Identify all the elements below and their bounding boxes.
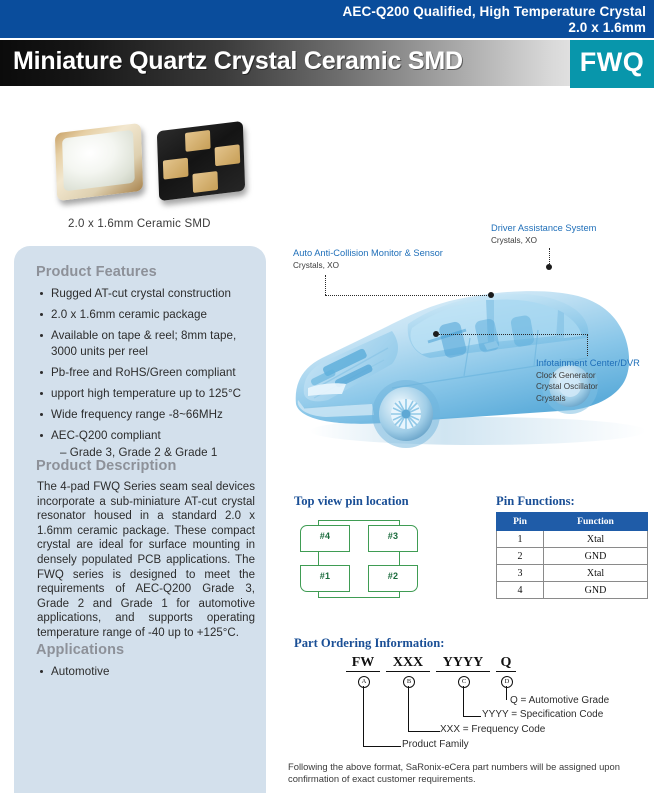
product-features-list: Rugged AT-cut crystal construction2.0 x … [38,286,256,466]
order-segment-a: FW [346,655,380,672]
table-row: 1Xtal [497,531,648,548]
table-row: 2GND [497,548,648,565]
solder-pad [215,144,241,166]
callout-sub: Crystals, XO [491,235,596,247]
legend-c: YYYY = Specification Code [482,709,603,720]
cell-function: Xtal [544,565,648,582]
pin-location-heading: Top view pin location [294,494,409,509]
callout-auto-anti-collision: Auto Anti-Collision Monitor & Sensor Cry… [293,248,443,271]
table-header-row: Pin Function [497,513,648,531]
callout-dot [546,264,552,270]
title-bar: Miniature Quartz Crystal Ceramic SMD [0,40,654,86]
banner-line-1: AEC-Q200 Qualified, High Temperature Cry… [343,4,646,19]
list-item: upport high temperature up to 125°C [38,386,256,402]
leader-a-horizontal [363,746,401,747]
pad-label: #2 [369,571,417,581]
product-description-heading: Product Description [36,458,176,474]
part-ordering-note: Following the above format, SaRonix-eCer… [288,761,648,785]
solder-pad [185,130,211,152]
legend-a: Product Family [402,739,469,750]
column-header-function: Function [544,513,648,531]
automotive-application-illustration: Auto Anti-Collision Monitor & Sensor Cry… [288,218,654,450]
callout-leader-vertical [325,275,326,295]
list-item: AEC-Q200 compliant [38,428,256,444]
crystal-package-top-photo [55,123,143,201]
product-features-heading: Product Features [36,264,157,280]
list-item: Available on tape & reel; 8mm tape, 3000… [38,328,256,359]
order-segment-d: Q [496,655,516,672]
part-ordering-diagram: FW XXX YYYY Q A B C D Q = Automotive Gra… [288,655,654,750]
callout-leader-horizontal [325,295,491,296]
cell-pin: 1 [497,531,544,548]
pin-location-diagram: #4 #3 #1 #2 [300,517,415,599]
cell-function: GND [544,582,648,599]
callout-sub-line-3: Crystals [536,393,640,405]
order-segment-b: XXX [386,655,430,672]
series-badge-label: FWQ [570,47,654,78]
callout-driver-assistance: Driver Assistance System Crystals, XO [491,223,596,246]
part-ordering-heading: Part Ordering Information: [294,636,444,651]
product-description-body: The 4-pad FWQ Series seam seal devices i… [37,480,255,641]
marker-d: D [501,676,513,688]
list-item: 2.0 x 1.6mm ceramic package [38,307,256,323]
applications-list: Automotive [38,664,248,685]
pad-label: #1 [301,571,349,581]
pin-functions-heading: Pin Functions: [496,494,575,509]
series-badge: FWQ [570,40,654,88]
callout-dot [433,331,439,337]
callout-leader-vertical [587,334,588,356]
leader-b-vertical [408,686,409,731]
photo-caption: 2.0 x 1.6mm Ceramic SMD [68,218,211,230]
callout-sub-line-2: Crystal Oscillator [536,381,640,393]
marker-c: C [458,676,470,688]
leader-c-vertical [463,686,464,716]
callout-leader-horizontal [436,334,588,335]
cell-function: GND [544,548,648,565]
marker-b: B [403,676,415,688]
column-header-pin: Pin [497,513,544,531]
table-row: 3Xtal [497,565,648,582]
leader-c-horizontal [463,716,481,717]
cell-pin: 2 [497,548,544,565]
leader-d [506,686,507,700]
banner-line-2: 2.0 x 1.6mm [568,20,646,35]
pad-1: #1 [300,565,350,592]
crystal-package-bottom-photo [157,121,245,201]
legend-b: XXX = Frequency Code [440,724,545,735]
legend-d: Q = Automotive Grade [510,695,609,706]
callout-sub-line-1: Clock Generator [536,370,640,382]
pad-label: #4 [301,531,349,541]
callout-heading: Infotainment Center/DVR [536,358,640,370]
order-segment-c: YYYY [436,655,490,672]
pad-4: #4 [300,525,350,552]
cell-pin: 3 [497,565,544,582]
pin-functions-table: Pin Function 1Xtal2GND3Xtal4GND [496,512,648,599]
cell-function: Xtal [544,531,648,548]
marker-a: A [358,676,370,688]
list-item: Wide frequency range -8~66MHz [38,407,256,423]
leader-a-vertical [363,686,364,746]
callout-dot [488,292,494,298]
callout-heading: Driver Assistance System [491,223,596,235]
list-item: Pb-free and RoHS/Green compliant [38,365,256,381]
callout-infotainment: Infotainment Center/DVR Clock Generator … [536,358,640,404]
table-body: 1Xtal2GND3Xtal4GND [497,531,648,599]
pad-label: #3 [369,531,417,541]
solder-pad [192,171,218,193]
applications-heading: Applications [36,642,124,658]
cell-pin: 4 [497,582,544,599]
callout-heading: Auto Anti-Collision Monitor & Sensor [293,248,443,260]
top-banner: AEC-Q200 Qualified, High Temperature Cry… [0,0,654,38]
pad-2: #2 [368,565,418,592]
page-title: Miniature Quartz Crystal Ceramic SMD [13,47,463,76]
leader-b-horizontal [408,731,440,732]
pad-3: #3 [368,525,418,552]
list-item: Rugged AT-cut crystal construction [38,286,256,302]
table-row: 4GND [497,582,648,599]
solder-pad [163,158,189,180]
list-item: Automotive [38,664,248,680]
left-info-panel: Product Features Rugged AT-cut crystal c… [14,246,266,793]
callout-sub: Crystals, XO [293,260,443,272]
